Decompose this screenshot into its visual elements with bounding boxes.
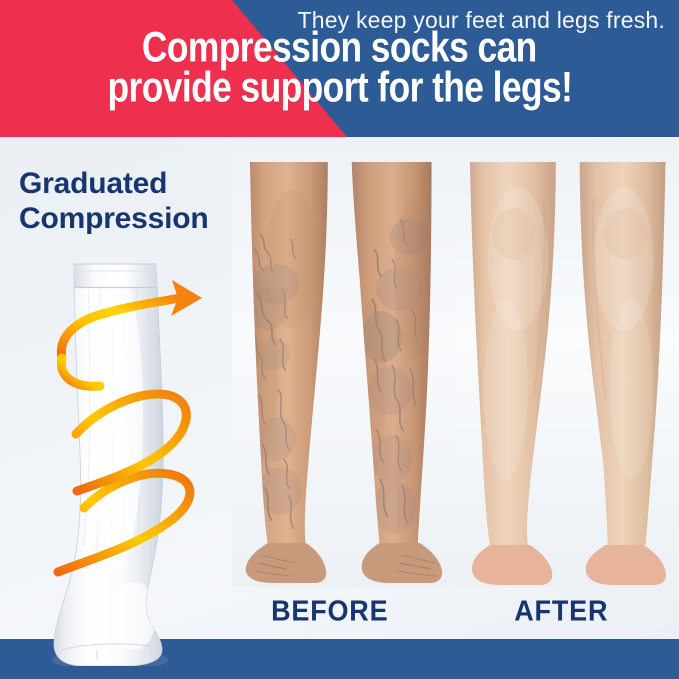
footer-tagline: They keep your feet and legs fresh.: [297, 0, 665, 40]
compression-sock-illustration: [22, 246, 227, 666]
graduated-compression-heading: Graduated Compression: [19, 166, 209, 236]
after-label-cell: AFTER: [456, 588, 679, 634]
before-label: BEFORE: [271, 595, 388, 628]
before-label-cell: BEFORE: [232, 588, 456, 634]
before-after-photo-panel: [232, 139, 679, 587]
headline-line-2: provide support for the legs!: [107, 66, 572, 110]
after-label: AFTER: [514, 595, 608, 628]
before-photo: [232, 139, 456, 587]
compression-socks-ad: Compression socks can provide support fo…: [0, 0, 679, 679]
before-after-labels: BEFORE AFTER: [232, 588, 679, 634]
gc-heading-line-1: Graduated: [19, 167, 167, 200]
after-photo: [456, 139, 679, 587]
gc-heading-line-2: Compression: [19, 201, 209, 236]
